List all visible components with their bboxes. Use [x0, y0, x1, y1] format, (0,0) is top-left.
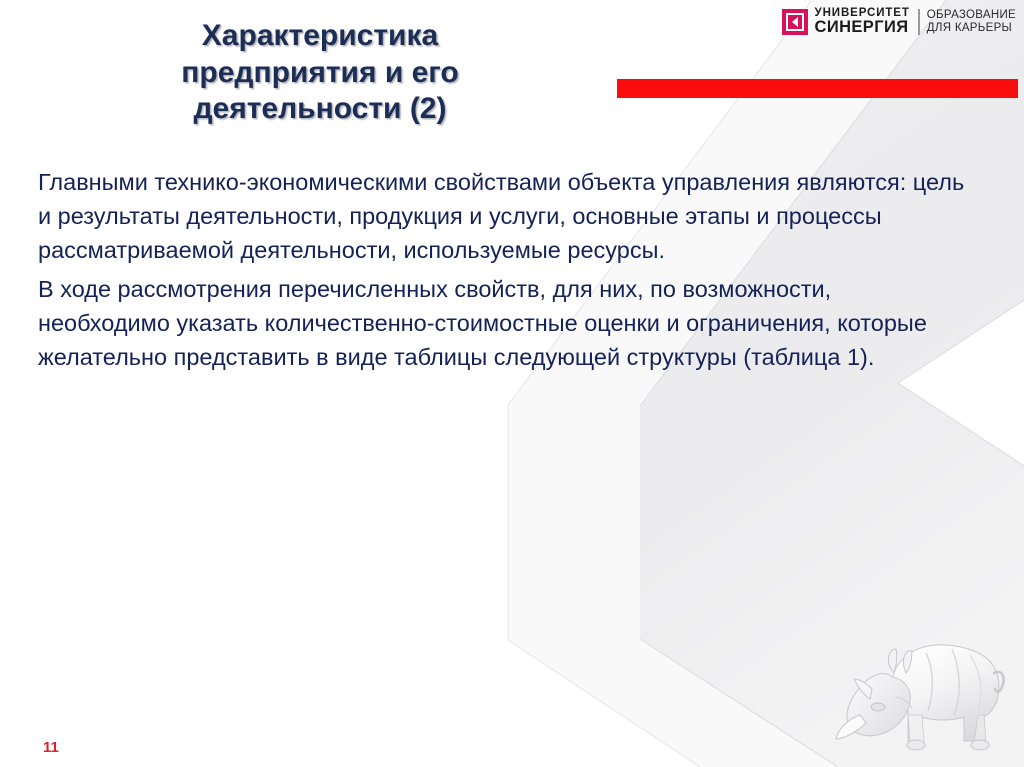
logo-tagline: ОБРАЗОВАНИЕ ДЛЯ КАРЬЕРЫ — [927, 9, 1016, 35]
slide-canvas: УНИВЕРСИТЕТ СИНЕРГИЯ ОБРАЗОВАНИЕ ДЛЯ КАР… — [0, 0, 1024, 767]
logo-synergy-label: СИНЕРГИЯ — [815, 19, 910, 36]
red-accent-bar — [617, 79, 1018, 98]
slide-title: Характеристика предприятия и его деятель… — [40, 18, 600, 128]
slide-body: Главными технико-экономическими свойства… — [38, 166, 968, 381]
logo-tagline-line1: ОБРАЗОВАНИЕ — [927, 9, 1016, 22]
body-paragraph-2: В ходе рассмотрения перечисленных свойст… — [38, 273, 968, 374]
left-arrow-in-square-icon — [782, 9, 808, 35]
synergy-logo: УНИВЕРСИТЕТ СИНЕРГИЯ ОБРАЗОВАНИЕ ДЛЯ КАР… — [782, 6, 1016, 38]
rhino-mascot — [834, 611, 1010, 759]
logo-wordmark: УНИВЕРСИТЕТ СИНЕРГИЯ — [815, 8, 910, 37]
body-paragraph-1: Главными технико-экономическими свойства… — [38, 166, 968, 267]
logo-divider — [918, 9, 920, 35]
page-number: 11 — [43, 739, 59, 756]
logo-tagline-line2: ДЛЯ КАРЬЕРЫ — [927, 22, 1016, 35]
